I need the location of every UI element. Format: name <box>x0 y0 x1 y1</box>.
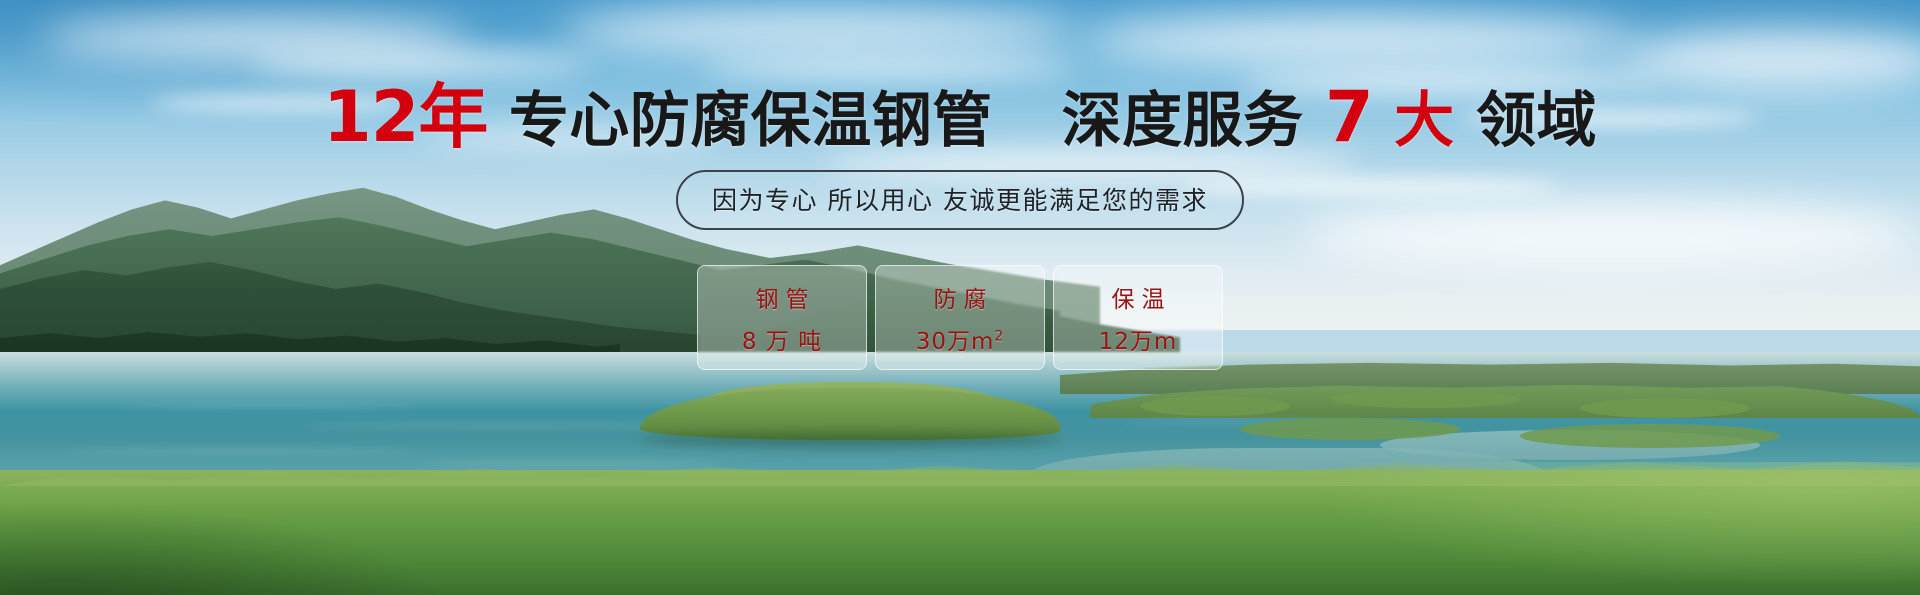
stat-card-value: 8 万 吨 <box>742 322 822 356</box>
stat-card-value-text: 30万m <box>916 329 995 355</box>
headline-years-red: 12年 <box>323 76 487 158</box>
headline-fields-black: 领域 <box>1476 86 1597 156</box>
headline-service-black: 深度服务 <box>1062 86 1304 156</box>
headline-seven-red: 7 <box>1325 76 1373 158</box>
headline-main-black: 专心防腐保温钢管 <box>509 86 993 156</box>
promo-banner: 12年 专心防腐保温钢管 深度服务 7 大 领域 因为专心 所以用心 友诚更能满… <box>0 0 1920 595</box>
stat-card-value: 12万m <box>1099 322 1178 356</box>
stat-card-value-exponent: 2 <box>994 328 1004 344</box>
banner-subtitle-pill: 因为专心 所以用心 友诚更能满足您的需求 <box>676 170 1244 230</box>
banner-headline: 12年 专心防腐保温钢管 深度服务 7 大 领域 <box>0 82 1920 152</box>
stat-card-list: 钢管 8 万 吨 防腐 30万m2 保温 12万m <box>0 265 1920 370</box>
banner-subtitle-container: 因为专心 所以用心 友诚更能满足您的需求 <box>0 170 1920 230</box>
stat-card-insulation: 保温 12万m <box>1053 265 1223 370</box>
stat-card-label: 钢管 <box>749 280 816 314</box>
stat-card-label: 防腐 <box>927 280 994 314</box>
stat-card-value: 30万m2 <box>916 322 1005 356</box>
stat-card-anticorrosion: 防腐 30万m2 <box>875 265 1045 370</box>
stat-card-steel-pipe: 钢管 8 万 吨 <box>697 265 867 370</box>
banner-content: 12年 专心防腐保温钢管 深度服务 7 大 领域 因为专心 所以用心 友诚更能满… <box>0 0 1920 595</box>
stat-card-label: 保温 <box>1105 280 1172 314</box>
headline-da-red: 大 <box>1394 86 1455 156</box>
